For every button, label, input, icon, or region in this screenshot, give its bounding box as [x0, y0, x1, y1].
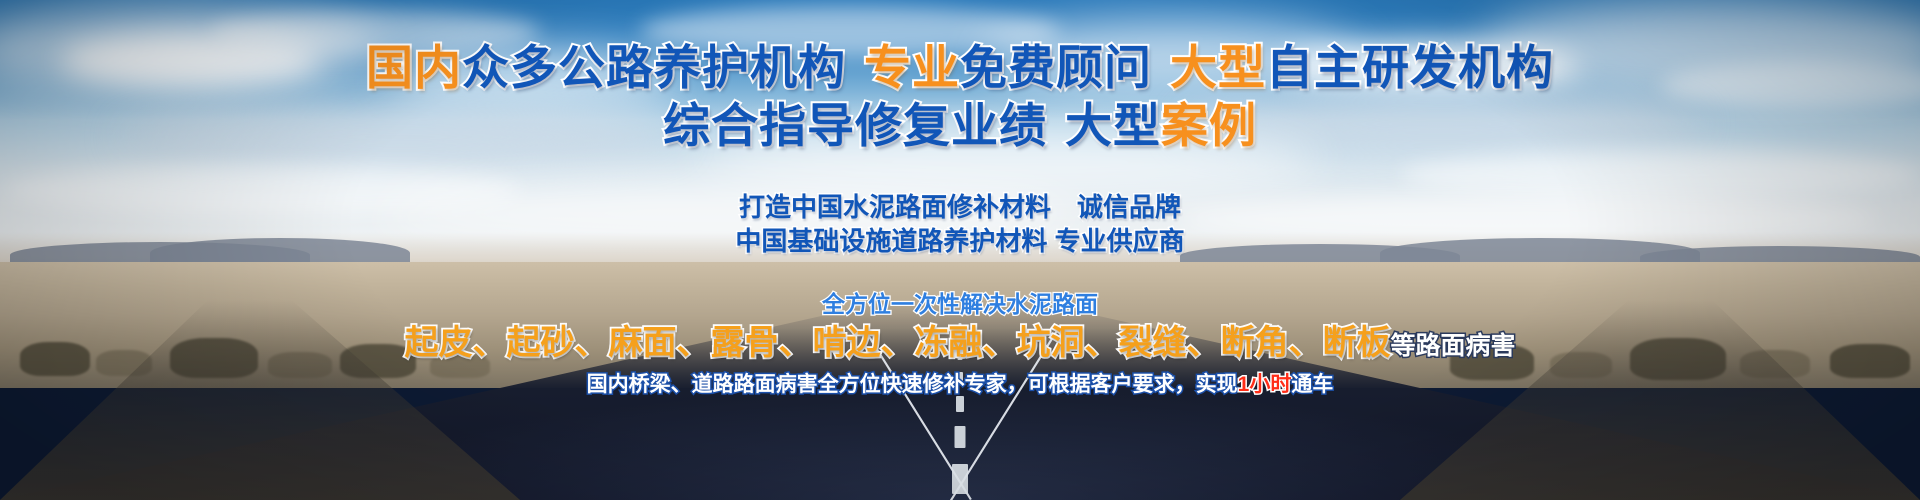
guarantee-highlight: 1小时 — [1238, 373, 1292, 396]
disease-list-suffix: 等路面病害 — [1390, 332, 1515, 360]
headline-line-1: 国内众多公路养护机构专业免费顾问大型自主研发机构 — [0, 44, 1920, 91]
headline2-seg-2: 大型 — [1065, 99, 1161, 152]
headline1-seg-2: 众多公路养护机构 — [462, 41, 846, 94]
headline1-seg-3: 专业 — [864, 41, 960, 94]
headline2-seg-3: 案例 — [1161, 99, 1257, 152]
subtitle-block: 打造中国水泥路面修补材料 诚信品牌 中国基础设施道路养护材料 专业供应商 — [0, 190, 1920, 259]
guarantee-suffix: 通车 — [1291, 373, 1333, 396]
road-text-line-3: 国内桥梁、道路路面病害全方位快速修补专家，可根据客户要求，实现1小时通车 — [0, 371, 1920, 398]
headline1-seg-1: 国内 — [366, 41, 462, 94]
road-text-line-1: 全方位一次性解决水泥路面 — [0, 290, 1920, 319]
subtitle-line-2: 中国基础设施道路养护材料 专业供应商 — [0, 224, 1920, 258]
headline-line-2: 综合指导修复业绩大型案例 — [0, 102, 1920, 149]
promo-banner: 国内众多公路养护机构专业免费顾问大型自主研发机构 综合指导修复业绩大型案例 打造… — [0, 0, 1920, 500]
guarantee-prefix: 国内桥梁、道路路面病害全方位快速修补专家，可根据客户要求，实现 — [587, 373, 1238, 396]
subtitle-line-1: 打造中国水泥路面修补材料 诚信品牌 — [0, 190, 1920, 224]
headline2-seg-1: 综合指导修复业绩 — [663, 99, 1047, 152]
headline1-seg-4: 免费顾问 — [960, 41, 1152, 94]
headline1-seg-6: 自主研发机构 — [1266, 41, 1554, 94]
road-text-line-2: 起皮、起砂、麻面、露骨、啃边、冻融、坑洞、裂缝、断角、断板等路面病害 — [0, 321, 1920, 365]
headline1-seg-5: 大型 — [1170, 41, 1266, 94]
disease-list: 起皮、起砂、麻面、露骨、啃边、冻融、坑洞、裂缝、断角、断板 — [404, 324, 1390, 362]
road-text-block: 全方位一次性解决水泥路面 起皮、起砂、麻面、露骨、啃边、冻融、坑洞、裂缝、断角、… — [0, 290, 1920, 398]
banner-text-stage: 国内众多公路养护机构专业免费顾问大型自主研发机构 综合指导修复业绩大型案例 打造… — [0, 0, 1920, 500]
